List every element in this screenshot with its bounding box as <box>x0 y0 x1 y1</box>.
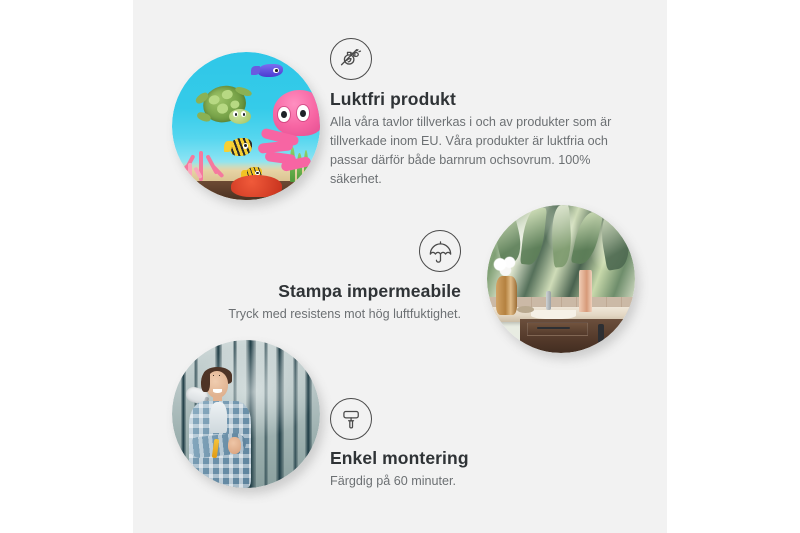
feature-easy-mount: Enkel montering Färgdig på 60 minuter. <box>330 398 620 491</box>
octopus-illustration <box>258 90 320 164</box>
product-feature-infographic: Luktfri produkt Alla våra tavlor tillver… <box>0 0 800 533</box>
feature-title: Enkel montering <box>330 448 620 469</box>
turtle-illustration <box>194 82 259 132</box>
underwater-cartoon-mural-photo <box>172 52 320 200</box>
wood-vanity-cabinet <box>520 319 635 353</box>
feature-body: Tryck med resistens mot hög luftfuktighe… <box>185 305 461 324</box>
feature-title: Luktfri produkt <box>330 89 630 110</box>
crab-illustration <box>231 175 281 197</box>
icon-row <box>185 230 461 272</box>
painter-forest-wallpaper-photo <box>172 340 320 488</box>
painter-person <box>184 367 270 488</box>
faucet <box>546 291 550 310</box>
paint-roller-icon <box>330 398 372 440</box>
icon-row <box>330 398 620 440</box>
soap-dish <box>517 306 535 313</box>
feature-odourless: Luktfri produkt Alla våra tavlor tillver… <box>330 38 630 190</box>
feature-body: Alla våra tavlor tillverkas i och av pro… <box>330 113 630 190</box>
feature-body: Färgdig på 60 minuter. <box>330 472 620 491</box>
coral-decor-2 <box>175 156 208 181</box>
icon-row <box>330 38 630 80</box>
fish-yellow-striped <box>230 138 252 156</box>
no-odour-spray-bottle-icon <box>330 38 372 80</box>
soap-dispenser <box>579 270 592 311</box>
feature-waterproof: Stampa impermeabile Tryck med resistens … <box>185 230 461 324</box>
umbrella-icon <box>419 230 461 272</box>
feature-title: Stampa impermeabile <box>185 281 461 302</box>
sink-basin <box>531 310 575 319</box>
gold-vase <box>496 276 517 314</box>
bathroom-tropical-wallpaper-photo <box>487 205 635 353</box>
